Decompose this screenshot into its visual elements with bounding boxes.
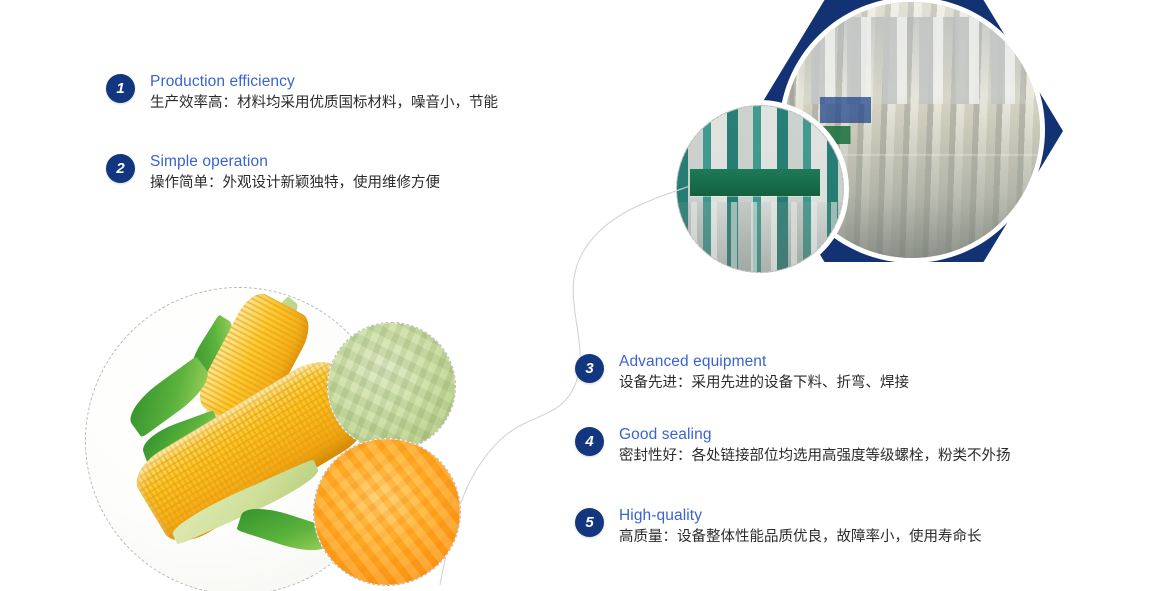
green-factory-equipment-photo	[676, 105, 844, 273]
feature-text: High-quality 高质量：设备整体性能品质优良，故障率小，使用寿命长	[619, 506, 982, 548]
feature-item-2: 2 Simple operation 操作简单：外观设计新颖独特，使用维修方便	[106, 152, 440, 194]
feature-title: High-quality	[619, 506, 982, 525]
feature-text: Advanced equipment 设备先进：采用先进的设备下料、折弯、焊接	[619, 352, 909, 394]
feature-text: Production efficiency 生产效率高：材料均采用优质国标材料，…	[150, 72, 498, 114]
feature-item-3: 3 Advanced equipment 设备先进：采用先进的设备下料、折弯、焊…	[575, 352, 909, 394]
feature-number-badge: 3	[575, 354, 604, 383]
infographic-page: 1 Production efficiency 生产效率高：材料均采用优质国标材…	[0, 0, 1154, 591]
feature-item-1: 1 Production efficiency 生产效率高：材料均采用优质国标材…	[106, 72, 498, 114]
feature-number-badge: 1	[106, 74, 135, 103]
feature-item-5: 5 High-quality 高质量：设备整体性能品质优良，故障率小，使用寿命长	[575, 506, 982, 548]
feature-title: Production efficiency	[150, 72, 498, 91]
feature-description: 生产效率高：材料均采用优质国标材料，噪音小，节能	[150, 92, 498, 114]
feature-title: Good sealing	[619, 425, 1011, 444]
feature-title: Simple operation	[150, 152, 440, 171]
corn-grits-photo	[313, 438, 461, 586]
corn-grits-image	[314, 439, 460, 585]
feature-description: 密封性好：各处链接部位均选用高强度等级螺栓，粉类不外扬	[619, 445, 1011, 467]
feature-description: 设备先进：采用先进的设备下料、折弯、焊接	[619, 372, 909, 394]
feature-number-badge: 5	[575, 508, 604, 537]
feature-number-badge: 4	[575, 427, 604, 456]
feature-text: Good sealing 密封性好：各处链接部位均选用高强度等级螺栓，粉类不外扬	[619, 425, 1011, 467]
feature-description: 操作简单：外观设计新颖独特，使用维修方便	[150, 172, 440, 194]
corn-meal-image	[328, 323, 455, 450]
corn-meal-photo	[327, 322, 456, 451]
feature-item-4: 4 Good sealing 密封性好：各处链接部位均选用高强度等级螺栓，粉类不…	[575, 425, 1011, 467]
feature-title: Advanced equipment	[619, 352, 909, 371]
feature-number-badge: 2	[106, 154, 135, 183]
factory-equipment-image	[677, 106, 843, 272]
feature-text: Simple operation 操作简单：外观设计新颖独特，使用维修方便	[150, 152, 440, 194]
feature-description: 高质量：设备整体性能品质优良，故障率小，使用寿命长	[619, 526, 982, 548]
